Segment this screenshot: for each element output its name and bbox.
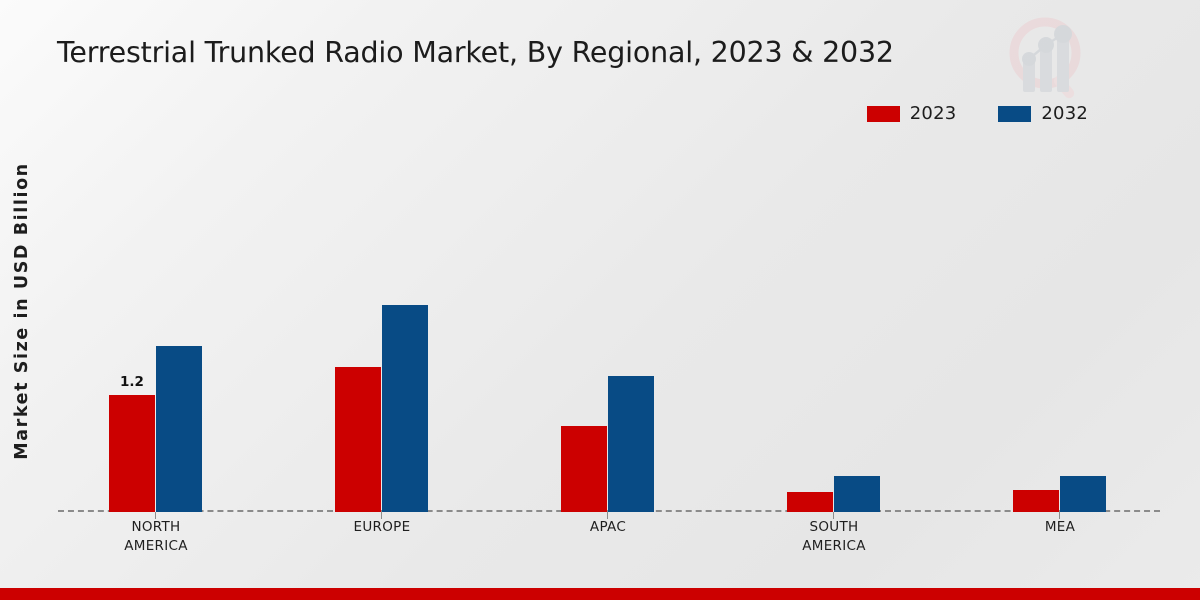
bars-apac (561, 140, 654, 512)
category-label-europe-line1: EUROPE (287, 518, 477, 537)
category-label-mea: MEA (965, 518, 1155, 537)
bars-south-america (787, 140, 880, 512)
bars-mea (1013, 140, 1106, 512)
category-label-south-america: SOUTH AMERICA (739, 518, 929, 556)
chart-container: Terrestrial Trunked Radio Market, By Reg… (0, 0, 1200, 600)
bars-europe (335, 140, 428, 512)
bar-europe-2032[interactable] (382, 305, 428, 512)
bar-south-america-2023[interactable] (787, 492, 833, 512)
chart-title: Terrestrial Trunked Radio Market, By Reg… (57, 36, 894, 69)
legend-swatch-2032-icon (998, 106, 1031, 122)
bars-north-america: 1.2 (109, 140, 202, 512)
bar-value-north-america-2023: 1.2 (120, 374, 144, 390)
category-label-north-america-line2: AMERICA (61, 537, 251, 556)
y-axis-title-text: Market Size in USD Billion (12, 162, 32, 460)
category-label-north-america-line1: NORTH (61, 518, 251, 537)
category-label-europe: EUROPE (287, 518, 477, 537)
category-label-apac: APAC (513, 518, 703, 537)
bar-north-america-2032[interactable] (156, 346, 202, 512)
plot-area: 1.2 NORTH AMERICA EUROPE (58, 140, 1160, 512)
legend-swatch-2023-icon (867, 106, 900, 122)
bar-mea-2023[interactable] (1013, 490, 1059, 512)
legend-item-2023[interactable]: 2023 (867, 103, 957, 124)
bar-south-america-2032[interactable] (834, 476, 880, 512)
y-axis-title: Market Size in USD Billion (2, 0, 42, 600)
bar-apac-2023[interactable] (561, 426, 607, 512)
category-label-south-america-line2: AMERICA (739, 537, 929, 556)
bottom-accent-strip (0, 588, 1200, 600)
bar-north-america-2023[interactable]: 1.2 (109, 395, 155, 512)
bar-apac-2032[interactable] (608, 376, 654, 512)
legend-label-2023: 2023 (910, 103, 957, 124)
category-label-south-america-line1: SOUTH (739, 518, 929, 537)
legend-item-2032[interactable]: 2032 (998, 103, 1088, 124)
chart-legend: 2023 2032 (867, 103, 1088, 124)
legend-label-2032: 2032 (1041, 103, 1088, 124)
category-label-apac-line1: APAC (513, 518, 703, 537)
magnifier-bar-chart-logo-watermark-icon (995, 8, 1095, 106)
category-label-north-america: NORTH AMERICA (61, 518, 251, 556)
bar-mea-2032[interactable] (1060, 476, 1106, 512)
bar-europe-2023[interactable] (335, 367, 381, 512)
category-label-mea-line1: MEA (965, 518, 1155, 537)
